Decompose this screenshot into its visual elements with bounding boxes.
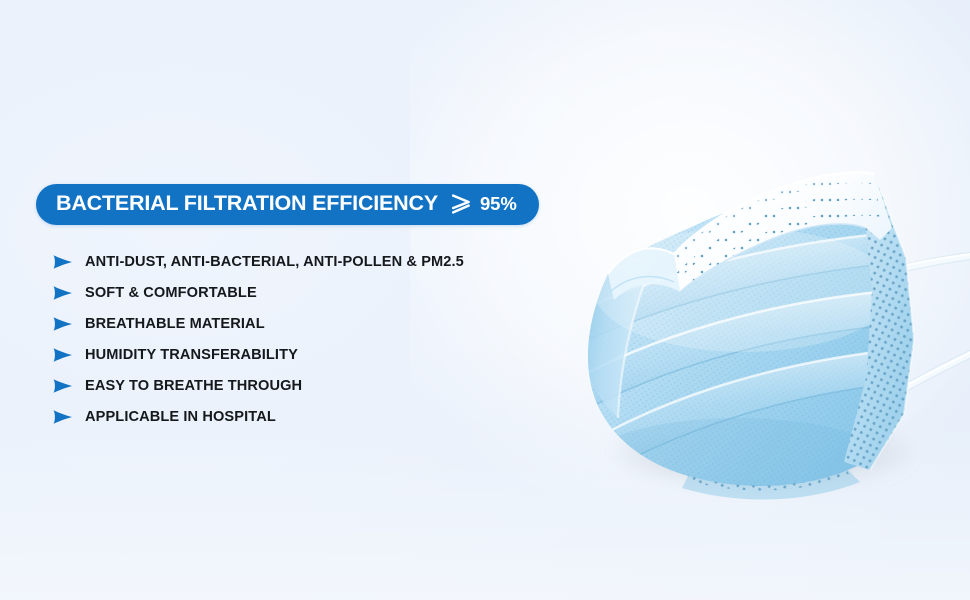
feature-list: ANTI-DUST, ANTI-BACTERIAL, ANTI-POLLEN &… bbox=[36, 247, 606, 433]
feature-content: BACTERIAL FILTRATION EFFICIENCY 95% bbox=[36, 184, 606, 433]
bfe-badge-value: 95% bbox=[480, 195, 517, 214]
list-item: BREATHABLE MATERIAL bbox=[52, 309, 606, 340]
arrow-right-icon bbox=[52, 409, 73, 425]
list-item-label: EASY TO BREATHE THROUGH bbox=[85, 379, 302, 394]
arrow-right-icon bbox=[52, 254, 73, 270]
list-item: APPLICABLE IN HOSPITAL bbox=[52, 402, 606, 433]
arrow-right-icon bbox=[52, 378, 73, 394]
list-item-label: SOFT & COMFORTABLE bbox=[85, 286, 257, 301]
product-feature-banner: BACTERIAL FILTRATION EFFICIENCY 95% bbox=[0, 0, 970, 600]
bfe-badge-value-group: 95% bbox=[452, 194, 517, 214]
list-item-label: APPLICABLE IN HOSPITAL bbox=[85, 410, 276, 425]
list-item-label: BREATHABLE MATERIAL bbox=[85, 317, 265, 332]
surgical-mask-image bbox=[548, 78, 970, 498]
arrow-right-icon bbox=[52, 316, 73, 332]
list-item: HUMIDITY TRANSFERABILITY bbox=[52, 340, 606, 371]
list-item: SOFT & COMFORTABLE bbox=[52, 278, 606, 309]
list-item-label: ANTI-DUST, ANTI-BACTERIAL, ANTI-POLLEN &… bbox=[85, 255, 464, 270]
list-item: ANTI-DUST, ANTI-BACTERIAL, ANTI-POLLEN &… bbox=[52, 247, 606, 278]
arrow-right-icon bbox=[52, 285, 73, 301]
list-item-label: HUMIDITY TRANSFERABILITY bbox=[85, 348, 298, 363]
bfe-badge-title: BACTERIAL FILTRATION EFFICIENCY bbox=[56, 193, 438, 215]
greater-than-or-equal-icon bbox=[452, 194, 471, 214]
bfe-badge: BACTERIAL FILTRATION EFFICIENCY 95% bbox=[36, 184, 539, 225]
list-item: EASY TO BREATHE THROUGH bbox=[52, 371, 606, 402]
arrow-right-icon bbox=[52, 347, 73, 363]
